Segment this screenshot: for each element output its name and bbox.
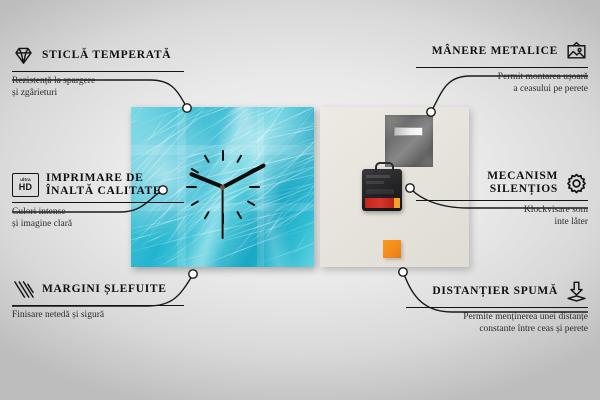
feature-subtitle: Permit montarea ușoarăa ceasului pe pere… [416,72,588,95]
polished-edges-icon [12,278,35,301]
feature-title: IMPRIMARE DE ÎNALTĂ CALITATE [46,172,184,198]
feature-title: MÂNERE METALICE [432,45,558,58]
diamond-icon [12,44,35,67]
feature-title: STICLĂ TEMPERATĂ [42,49,171,62]
connector-dot-foam [399,268,407,276]
feature-subtitle: Culori intenseși imagine clară [12,207,184,230]
infographic-canvas: STICLĂ TEMPERATĂ Rezistență la spargereș… [0,0,600,400]
feature-subtitle: Permite menținerea unei distanțeconstant… [406,312,588,335]
feature-header: ultra HD IMPRIMARE DE ÎNALTĂ CALITATE [12,172,184,198]
feature-high-quality-print: ultra HD IMPRIMARE DE ÎNALTĂ CALITATE Cu… [12,172,184,230]
connector-dot-hangers [427,108,435,116]
feature-silent-mechanism: MECANISM SILENȚIOS Klockvisare sominte l… [416,170,588,228]
feature-divider [12,71,184,72]
feature-divider [12,202,184,203]
feature-title: DISTANȚIER SPUMĂ [432,285,558,298]
feature-subtitle: Rezistență la spargereși zgârieturi [12,76,184,99]
feature-header: MARGINI ȘLEFUITE [12,278,184,301]
feature-title: MARGINI ȘLEFUITE [42,283,167,296]
feature-metal-hangers: MÂNERE METALICE Permit montarea ușoarăa … [416,40,588,95]
feature-divider [406,307,588,308]
connector-dot-edges [189,270,197,278]
ultra-hd-icon: ultra HD [12,173,39,197]
feature-header: STICLĂ TEMPERATĂ [12,44,184,67]
connector-dot-mechanism [406,184,414,192]
connector-dot-glass [183,104,191,112]
feature-polished-edges: MARGINI ȘLEFUITE Finisare netedă și sigu… [12,278,184,322]
ultra-hd-icon-hd: HD [19,183,33,192]
feature-title: MECANISM SILENȚIOS [416,170,558,196]
feature-subtitle: Finisare netedă și sigură [12,310,184,322]
feature-foam-spacer: DISTANȚIER SPUMĂ Permite menținerea unei… [406,280,588,335]
feature-divider [416,67,588,68]
feature-header: MECANISM SILENȚIOS [416,170,588,196]
feature-tempered-glass: STICLĂ TEMPERATĂ Rezistență la spargereș… [12,44,184,99]
feature-subtitle: Klockvisare sominte låter [416,205,588,228]
foam-spacer-icon [565,280,588,303]
feature-header: DISTANȚIER SPUMĂ [406,280,588,303]
picture-hanger-icon [565,40,588,63]
gear-icon [565,172,588,195]
feature-divider [416,200,588,201]
feature-divider [12,305,184,306]
feature-header: MÂNERE METALICE [416,40,588,63]
